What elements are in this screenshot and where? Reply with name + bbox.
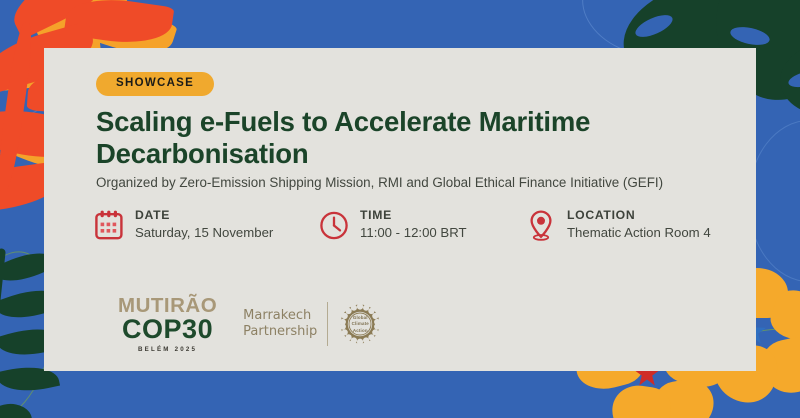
- event-card: SHOWCASE Scaling e-Fuels to Accelerate M…: [44, 48, 756, 371]
- logo-row: MUTIRÃO COP30 BELÉM 2025 Marrakech Partn…: [118, 296, 382, 353]
- poster-canvas: SHOWCASE Scaling e-Fuels to Accelerate M…: [0, 0, 800, 418]
- logo-divider: [327, 302, 328, 346]
- clock-icon: [319, 209, 349, 241]
- monstera-leaf-notch-3: [729, 24, 771, 48]
- monstera-leaf-notch-5: [787, 68, 800, 90]
- cop30-belem-text: BELÉM 2025: [138, 347, 197, 353]
- meta-location-label: LOCATION: [567, 208, 711, 223]
- marrakech-line-2: Partnership: [243, 324, 317, 340]
- location-pin-icon: [526, 209, 556, 241]
- cop30-text: COP30: [122, 316, 213, 343]
- meta-time: TIME 11:00 - 12:00 BRT: [319, 208, 467, 241]
- event-title: Scaling e-Fuels to Accelerate Maritime D…: [96, 106, 726, 171]
- cop30-logo: MUTIRÃO COP30 BELÉM 2025: [118, 296, 217, 353]
- calendar-icon: [94, 209, 124, 241]
- meta-time-text: TIME 11:00 - 12:00 BRT: [360, 208, 467, 241]
- monstera-leaf-3: [775, 34, 800, 121]
- meta-date-value: Saturday, 15 November: [135, 224, 273, 241]
- meta-date-text: DATE Saturday, 15 November: [135, 208, 273, 241]
- event-meta-row: DATE Saturday, 15 November TIME 11:00 - …: [94, 208, 754, 258]
- marrakech-partnership-logo: Marrakech Partnership: [243, 302, 382, 346]
- global-climate-action-seal: Global Climate Action: [338, 302, 382, 346]
- meta-time-label: TIME: [360, 208, 467, 223]
- event-organizers: Organized by Zero-Emission Shipping Miss…: [96, 174, 746, 192]
- marrakech-partnership-text: Marrakech Partnership: [243, 308, 317, 341]
- seal-text: Global Climate Action: [338, 302, 382, 346]
- meta-time-value: 11:00 - 12:00 BRT: [360, 224, 467, 241]
- meta-location: LOCATION Thematic Action Room 4: [526, 208, 711, 241]
- meta-location-text: LOCATION Thematic Action Room 4: [567, 208, 711, 241]
- meta-date: DATE Saturday, 15 November: [94, 208, 273, 241]
- meta-date-label: DATE: [135, 208, 273, 223]
- meta-location-value: Thematic Action Room 4: [567, 224, 711, 241]
- showcase-badge: SHOWCASE: [96, 72, 214, 96]
- seal-line-3: Action: [353, 328, 368, 334]
- marrakech-line-1: Marrakech: [243, 308, 317, 324]
